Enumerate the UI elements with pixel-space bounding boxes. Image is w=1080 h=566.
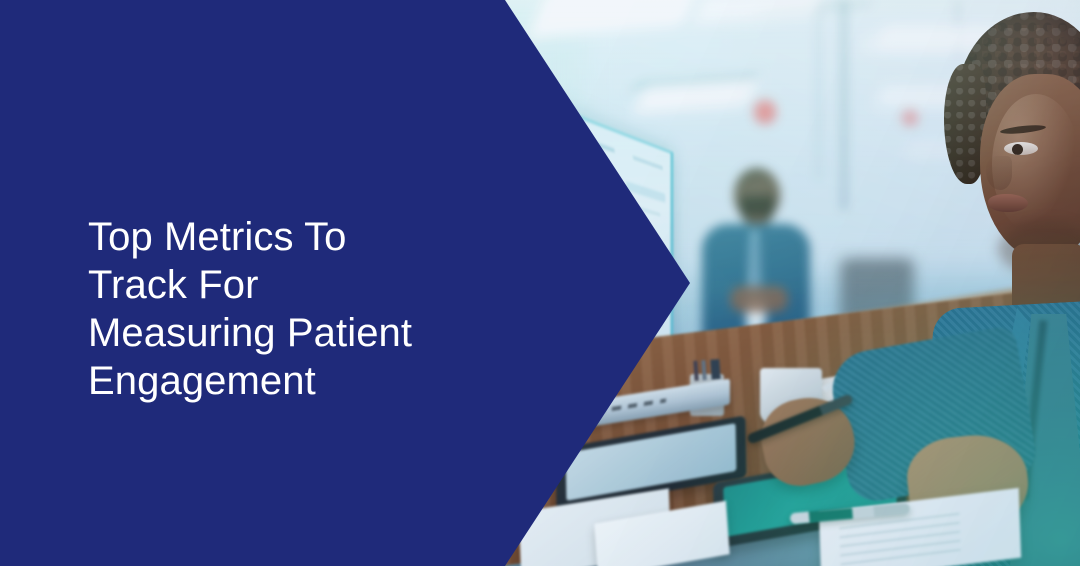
- marketing-banner: Top Metrics To Track For Measuring Patie…: [0, 0, 1080, 566]
- partition-frame: [816, 0, 821, 180]
- heading-line-3: Measuring Patient: [88, 309, 508, 357]
- heading-line-1: Top Metrics To: [88, 213, 508, 261]
- person-lips: [988, 194, 1028, 212]
- exit-sign: [752, 98, 778, 126]
- person-eye: [1004, 142, 1038, 155]
- person-pupil: [1012, 144, 1023, 155]
- person-nose: [986, 156, 1012, 190]
- person-hands: [730, 286, 788, 312]
- heading-line-4: Engagement: [88, 357, 508, 405]
- banner-heading: Top Metrics To Track For Measuring Patie…: [88, 213, 508, 405]
- partition-frame: [840, 0, 848, 210]
- heading-line-2: Track For: [88, 261, 508, 309]
